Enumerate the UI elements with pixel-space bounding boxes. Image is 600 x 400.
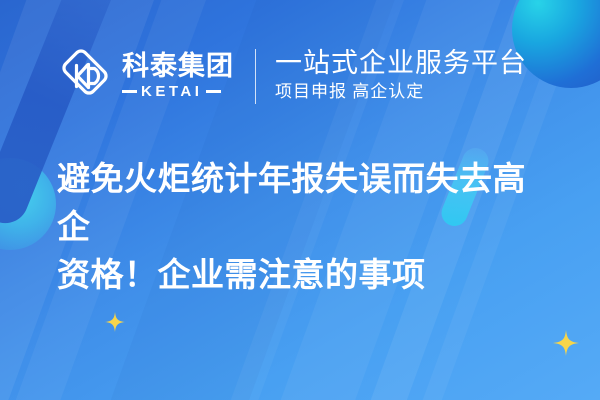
logo-rule-right (206, 90, 221, 93)
page-title: 避免火炬统计年报失误而失去高企 资格！企业需注意的事项 (57, 155, 557, 299)
sparkle-icon-right (553, 330, 579, 356)
brand-logo[interactable]: 科泰集团 KETAI (57, 48, 234, 104)
brand-tagline: 一站式企业服务平台 项目申报 高企认定 (275, 48, 527, 104)
ketai-diamond-kd-monogram-icon (57, 48, 113, 104)
sparkle-icon-left (105, 312, 125, 332)
tagline-primary: 一站式企业服务平台 (275, 48, 527, 79)
page-title-line-1: 避免火炬统计年报失误而失去高企 (57, 155, 557, 251)
logo-rule-left (122, 90, 137, 93)
promotional-banner: 科泰集团 KETAI 一站式企业服务平台 项目申报 高企认定 避免火炬统计年报失… (0, 0, 600, 400)
brand-name-en: KETAI (141, 83, 202, 100)
tagline-secondary: 项目申报 高企认定 (275, 81, 527, 104)
brand-wordmark: 科泰集团 KETAI (122, 52, 234, 100)
header-divider (255, 49, 256, 104)
brand-name-en-row: KETAI (122, 83, 234, 100)
banner-header: 科泰集团 KETAI 一站式企业服务平台 项目申报 高企认定 (0, 40, 600, 112)
page-title-line-2: 资格！企业需注意的事项 (57, 251, 557, 299)
brand-name-cn: 科泰集团 (122, 52, 234, 80)
